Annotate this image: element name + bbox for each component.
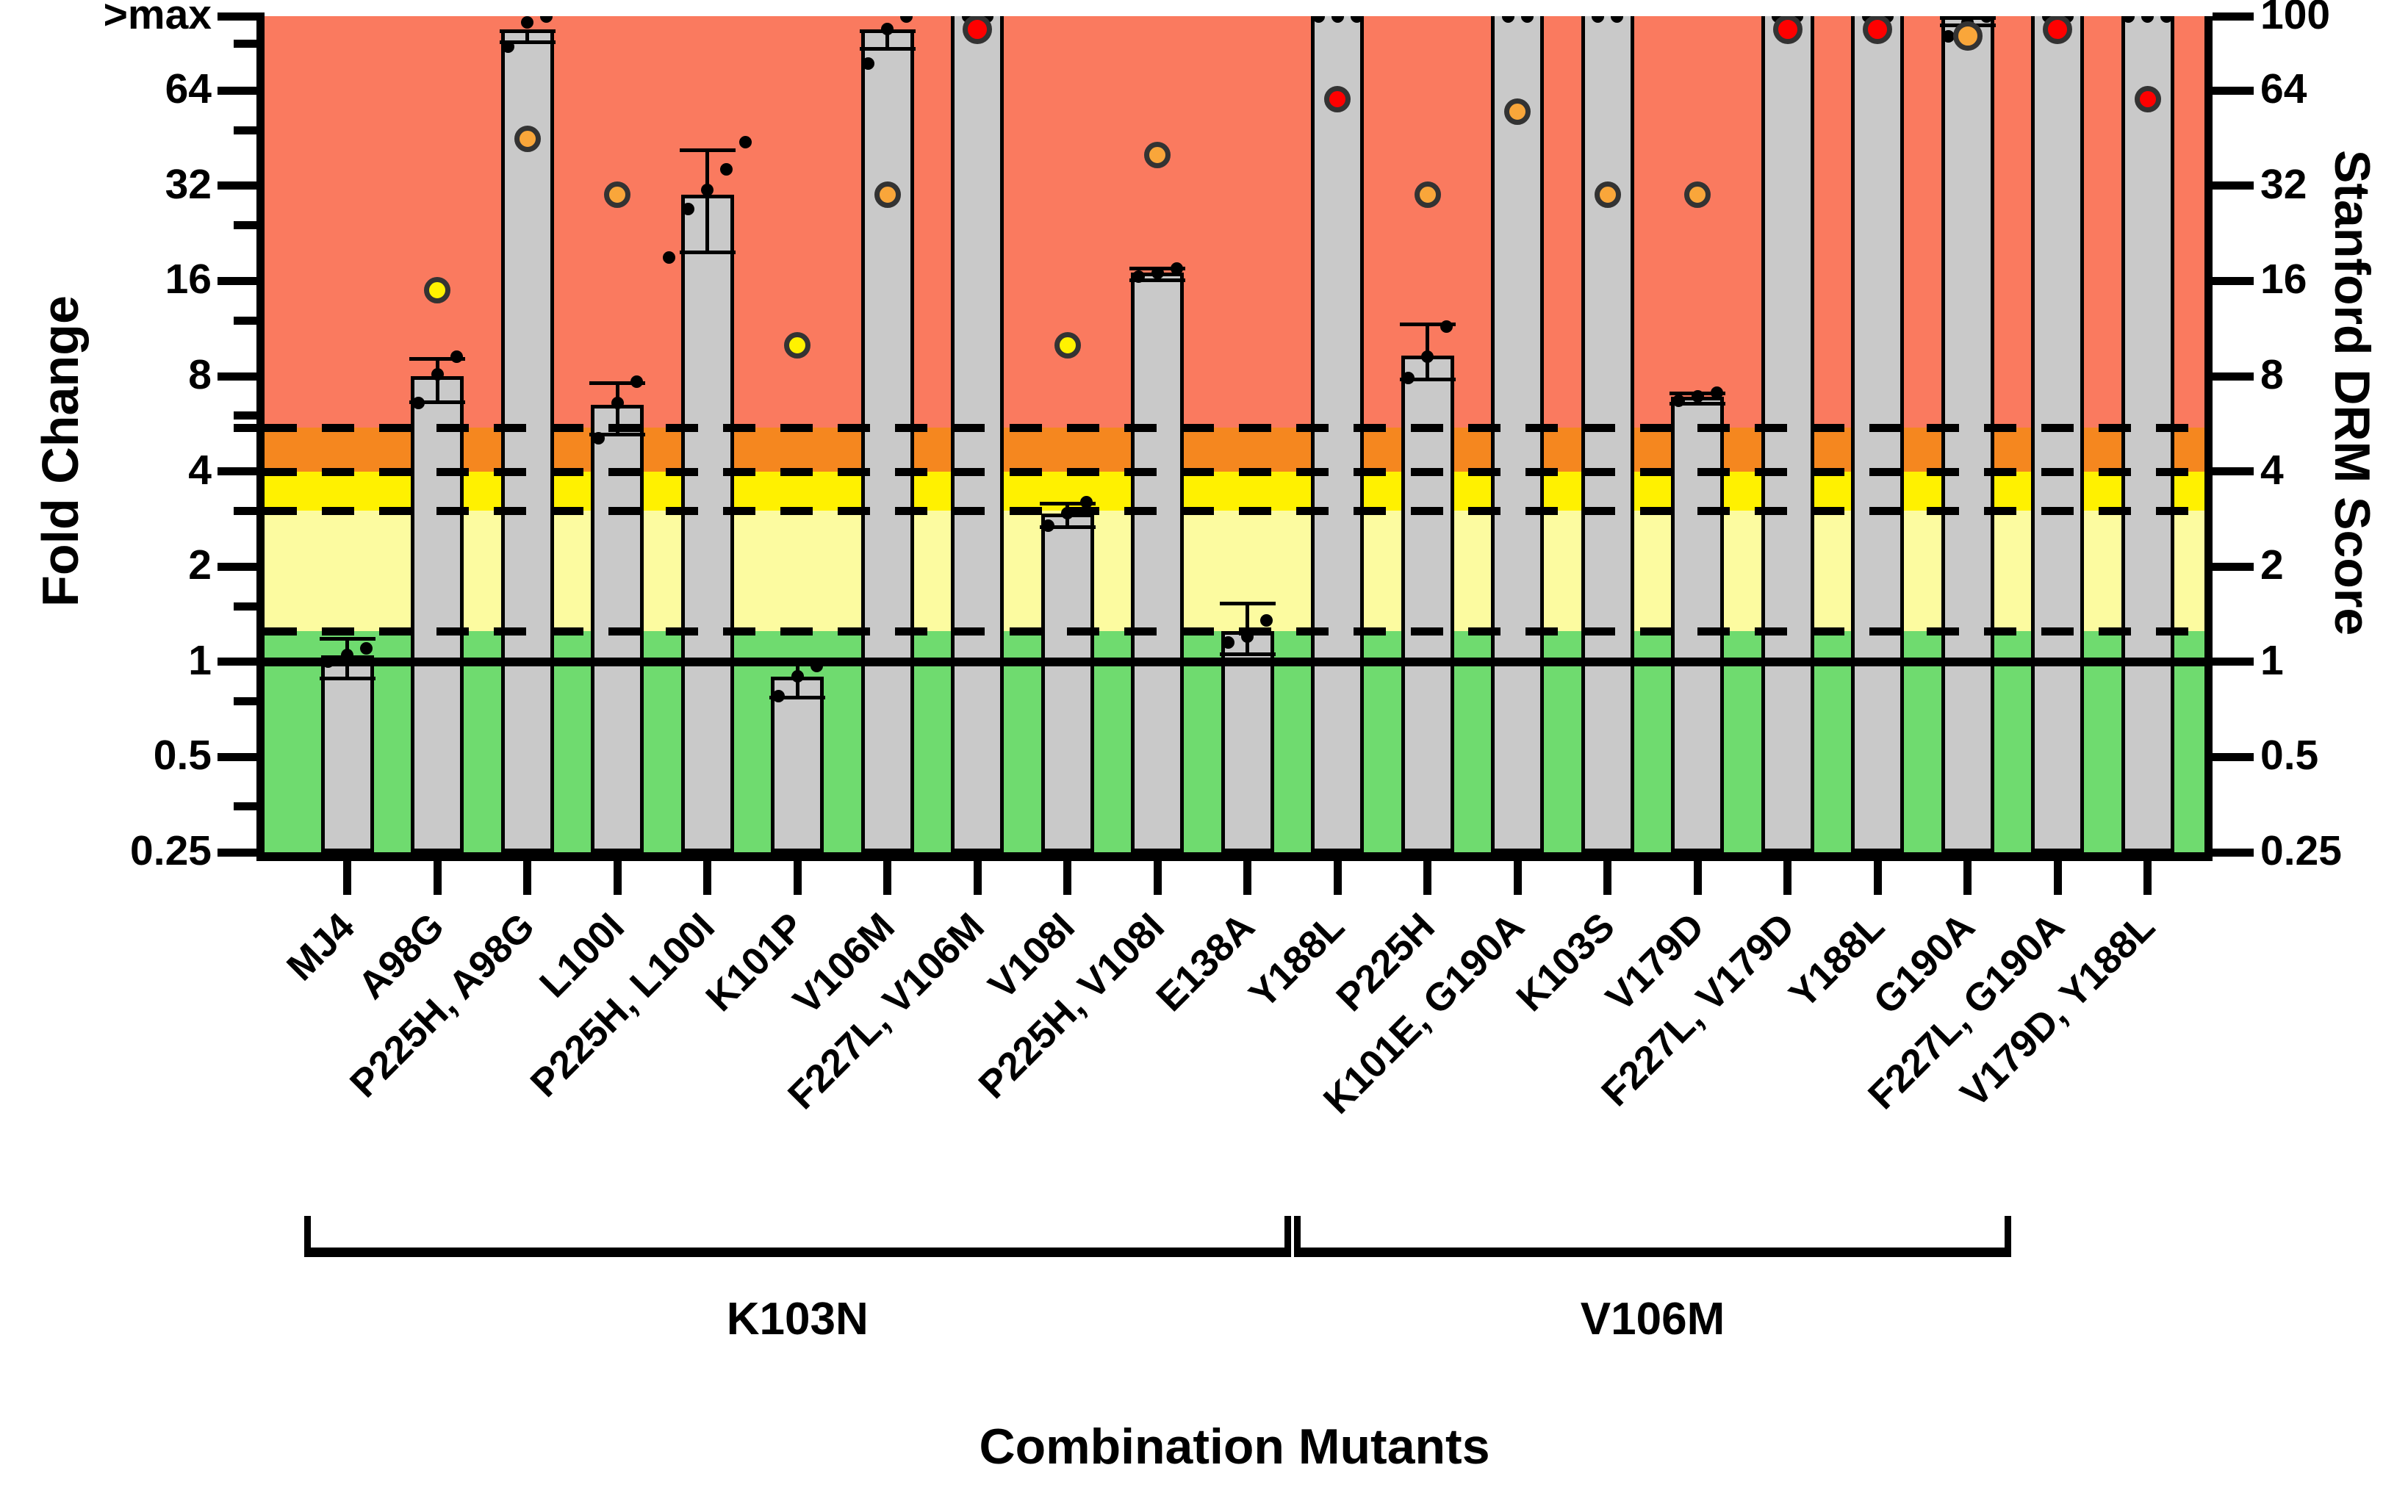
x-tick-19	[1963, 861, 1972, 895]
y-tick-label-right-8: 0.5	[2260, 735, 2318, 777]
y-tick-right-3	[2213, 277, 2254, 285]
y-tick-left-8	[218, 753, 265, 761]
y-tick-label-left-9: 0.25	[130, 830, 212, 872]
drm-score-dot-9	[1054, 332, 1081, 359]
y-tick-left-2	[218, 181, 265, 190]
y-tick-label-left-0: >max	[104, 0, 212, 36]
y-minor-tick-left-2	[234, 221, 265, 229]
y-minor-tick-left-4	[234, 411, 265, 420]
x-tick-21	[2143, 861, 2152, 895]
x-tick-17	[1783, 861, 1791, 895]
y-tick-left-1	[218, 87, 265, 95]
y-tick-label-left-6: 2	[188, 544, 212, 586]
y-tick-label-left-1: 64	[165, 68, 212, 110]
y-tick-left-3	[218, 277, 265, 285]
y-tick-label-right-7: 1	[2260, 640, 2284, 682]
replicate-dot-13-3	[1440, 320, 1453, 333]
error-cap-upper-5	[680, 148, 736, 152]
y-axis-right-title: Stanford DRM Score	[2323, 150, 2381, 636]
y-tick-label-right-1: 64	[2260, 68, 2307, 110]
y-tick-label-right-0: 100	[2260, 0, 2330, 36]
replicate-dot-10-2	[1151, 267, 1164, 279]
bar-8	[951, 16, 1004, 852]
bar-12	[1311, 16, 1364, 852]
y-tick-label-left-5: 4	[188, 450, 212, 492]
band-high-level	[265, 16, 2204, 428]
error-cap-lower-5	[680, 251, 736, 254]
replicate-dot-6-2	[791, 670, 804, 683]
bar-19	[1941, 16, 1994, 852]
error-bar-5	[705, 148, 709, 251]
bar-21	[2121, 16, 2174, 852]
x-tick-18	[1874, 861, 1882, 895]
group-label-2: V106M	[1294, 1293, 2010, 1345]
bar-10	[1131, 273, 1184, 852]
bar-9	[1041, 514, 1094, 852]
y-minor-tick-left-3	[234, 317, 265, 325]
replicate-dot-5-1	[663, 251, 675, 264]
bar-16	[1671, 397, 1724, 852]
bar-20	[2031, 16, 2084, 852]
y-tick-right-8	[2213, 753, 2254, 761]
baseline-at-one	[265, 658, 2204, 666]
x-tick-9	[1063, 861, 1071, 895]
error-cap-upper-11	[1220, 602, 1276, 605]
x-tick-10	[1154, 861, 1162, 895]
x-axis-spine	[256, 852, 2213, 861]
replicate-dot-2-2	[431, 368, 444, 381]
bar-14	[1491, 16, 1544, 852]
threshold-line-4	[265, 424, 2204, 432]
x-tick-8	[974, 861, 982, 895]
replicate-dot-16-1	[1672, 395, 1685, 407]
x-tick-14	[1514, 861, 1522, 895]
drm-score-dot-15	[1595, 181, 1621, 208]
replicate-dot-6-1	[772, 690, 785, 702]
x-tick-12	[1334, 861, 1342, 895]
y-tick-left-7	[218, 658, 265, 666]
replicate-dot-7-1	[862, 57, 874, 70]
x-tick-4	[614, 861, 622, 895]
error-cap-lower-1	[320, 677, 375, 680]
x-tick-16	[1694, 861, 1702, 895]
drm-score-dot-17	[1773, 16, 1803, 44]
x-tick-13	[1423, 861, 1431, 895]
drm-score-dot-7	[874, 181, 901, 208]
bracket-bar-1	[304, 1248, 1291, 1257]
bar-5	[681, 195, 734, 852]
replicate-dot-9-1	[1042, 519, 1054, 532]
bar-15	[1581, 16, 1634, 852]
x-tick-2	[434, 861, 442, 895]
y-minor-tick-left-9	[234, 802, 265, 810]
bar-18	[1851, 16, 1904, 852]
replicate-dot-4-3	[630, 375, 643, 388]
bar-6	[771, 677, 824, 852]
y-axis-left-title: Fold Change	[31, 295, 90, 607]
y-tick-label-left-8: 0.5	[154, 735, 212, 777]
y-tick-left-9	[218, 849, 265, 857]
replicate-dot-10-1	[1132, 270, 1145, 283]
bar-7	[861, 29, 914, 852]
y-tick-label-right-5: 4	[2260, 450, 2284, 492]
error-cap-upper-3	[500, 29, 556, 33]
y-tick-right-9	[2213, 849, 2254, 857]
error-cap-lower-11	[1220, 652, 1276, 656]
bar-2	[411, 376, 464, 852]
bar-1	[321, 655, 374, 852]
replicate-dot-16-2	[1692, 390, 1704, 403]
y-tick-left-0	[218, 12, 265, 21]
y-tick-right-1	[2213, 87, 2254, 95]
y-axis-right-spine	[2204, 16, 2213, 861]
y-tick-label-right-9: 0.25	[2260, 830, 2342, 872]
x-tick-11	[1243, 861, 1251, 895]
y-tick-right-2	[2213, 181, 2254, 190]
x-axis-title: Combination Mutants	[118, 1418, 2351, 1475]
band-low-level	[265, 472, 2204, 511]
y-minor-tick-left-8	[234, 697, 265, 705]
y-minor-tick-left-6	[234, 507, 265, 515]
bar-3	[501, 29, 554, 852]
x-tick-15	[1603, 861, 1611, 895]
replicate-dot-5-5	[739, 136, 752, 148]
y-tick-right-7	[2213, 658, 2254, 666]
y-tick-label-right-6: 2	[2260, 544, 2284, 586]
plot-area	[265, 16, 2204, 852]
x-tick-5	[703, 861, 711, 895]
band-intermediate	[265, 428, 2204, 472]
threshold-line-2	[265, 507, 2204, 515]
chart-figure: Fold Change Stanford DRM Score Combinati…	[0, 0, 2408, 1512]
drm-score-dot-16	[1684, 181, 1711, 208]
y-tick-label-right-3: 16	[2260, 259, 2307, 300]
drm-score-dot-4	[604, 181, 630, 208]
replicate-dot-10-3	[1171, 262, 1183, 275]
drm-score-dot-21	[2135, 86, 2161, 112]
y-tick-label-left-3: 16	[165, 259, 212, 300]
replicate-dot-9-3	[1080, 496, 1093, 508]
group-bracket-1	[304, 1216, 1291, 1257]
y-tick-left-5	[218, 467, 265, 475]
drm-score-dot-2	[424, 277, 450, 303]
replicate-dot-2-1	[412, 397, 425, 409]
drm-score-dot-3	[514, 126, 541, 152]
y-tick-label-left-7: 1	[188, 640, 212, 682]
drm-score-dot-19	[1953, 21, 1983, 51]
y-tick-label-left-2: 32	[165, 164, 212, 206]
threshold-line-1	[265, 627, 2204, 636]
x-tick-6	[794, 861, 802, 895]
x-tick-7	[883, 861, 891, 895]
y-tick-right-0	[2213, 12, 2254, 21]
y-minor-tick-left-1	[234, 126, 265, 134]
drm-score-dot-13	[1415, 181, 1441, 208]
bar-17	[1761, 16, 1814, 852]
group-label-1: K103N	[304, 1293, 1291, 1345]
x-tick-3	[523, 861, 531, 895]
replicate-dot-2-3	[450, 350, 463, 363]
x-tick-1	[343, 861, 351, 895]
y-tick-right-6	[2213, 563, 2254, 571]
error-cap-lower-7	[860, 47, 916, 51]
y-tick-label-right-4: 8	[2260, 354, 2284, 396]
y-tick-right-4	[2213, 372, 2254, 381]
y-tick-label-left-4: 8	[188, 354, 212, 396]
y-tick-left-6	[218, 563, 265, 571]
y-minor-tick-left-7	[234, 602, 265, 611]
error-cap-upper-1	[320, 637, 375, 641]
y-minor-tick-left-0	[234, 40, 265, 48]
drm-score-dot-14	[1504, 98, 1531, 125]
y-axis-left-spine	[256, 16, 265, 861]
y-tick-right-5	[2213, 467, 2254, 475]
threshold-line-3	[265, 468, 2204, 476]
replicate-dot-4-2	[611, 397, 624, 409]
y-tick-label-right-2: 32	[2260, 164, 2307, 206]
replicate-dot-4-1	[592, 432, 605, 444]
y-minor-tick-left-5	[234, 424, 265, 432]
band-potential-low-level	[265, 511, 2204, 631]
bracket-bar-2	[1294, 1248, 2010, 1257]
replicate-dot-16-3	[1711, 386, 1723, 399]
x-tick-20	[2054, 861, 2062, 895]
y-tick-left-4	[218, 372, 265, 381]
group-bracket-2	[1294, 1216, 2010, 1257]
